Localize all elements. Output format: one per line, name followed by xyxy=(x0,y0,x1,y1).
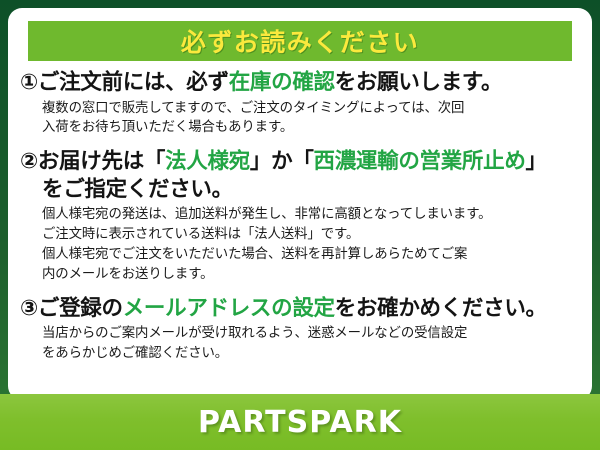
notice-item-1: ①ご注文前には、必ず在庫の確認をお願いします。 複数の窓口で販売してますので、ご… xyxy=(20,69,586,138)
notice-1-body: 複数の窓口で販売してますので、ご注文のタイミングによっては、次回 入荷をお待ち頂… xyxy=(42,99,586,139)
notice-2-heading-line-2: をご指定ください。 xyxy=(42,176,586,204)
notice-2-body: 個人様宅宛の発送は、追加送料が発生し、非常に高額となってしまいます。 ご注文時に… xyxy=(42,205,586,284)
notice-card: 必ずお読みください ①ご注文前には、必ず在庫の確認をお願いします。 複数の窓口で… xyxy=(0,0,600,450)
notice-3-body: 当店からのご案内メールが受け取れるよう、迷惑メールなどの受信設定 をあらかじめご… xyxy=(42,324,586,364)
notice-2-heading-mid: 」か「 xyxy=(250,149,314,174)
notice-2-heading-post: 」 xyxy=(526,149,547,174)
notice-1-heading-post: をお願いします。 xyxy=(335,70,502,95)
notice-2-body-line-2: ご注文時に表示されている送料は「法人送料」です。 xyxy=(42,225,586,245)
notice-1-heading-pre: ご注文前には、必ず xyxy=(38,70,229,95)
notice-3-heading: ③ご登録のメールアドレスの設定をお確かめください。 xyxy=(20,295,586,323)
footer-bar: PARTSPARK xyxy=(0,394,600,450)
notice-item-3: ③ご登録のメールアドレスの設定をお確かめください。 当店からのご案内メールが受け… xyxy=(20,295,586,364)
notice-3-heading-pre: ご登録の xyxy=(38,296,123,321)
notice-2-heading-highlight-2: 西濃運輸の営業所止め xyxy=(314,149,526,174)
notice-1-heading-highlight: 在庫の確認 xyxy=(229,70,335,95)
notice-1-heading: ①ご注文前には、必ず在庫の確認をお願いします。 xyxy=(20,69,586,97)
notice-panel: 必ずお読みください ①ご注文前には、必ず在庫の確認をお願いします。 複数の窓口で… xyxy=(8,8,592,400)
notice-2-heading-highlight: 法人様宛 xyxy=(165,149,250,174)
notice-2-heading: ②お届け先は「法人様宛」か「西濃運輸の営業所止め」 xyxy=(20,148,586,176)
notice-2-marker: ② xyxy=(20,149,38,174)
notice-1-marker: ① xyxy=(20,70,38,95)
notice-2-body-line-3: 個人様宅宛でご注文をいただいた場合、送料を再計算しあらためてご案 xyxy=(42,245,586,265)
notice-3-marker: ③ xyxy=(20,296,38,321)
brand-logo-text: PARTSPARK xyxy=(198,405,402,440)
notice-item-2: ②お届け先は「法人様宛」か「西濃運輸の営業所止め」 をご指定ください。 個人様宅… xyxy=(20,148,586,284)
notice-list: ①ご注文前には、必ず在庫の確認をお願いします。 複数の窓口で販売してますので、ご… xyxy=(20,69,586,365)
notice-2-heading-pre: お届け先は「 xyxy=(38,149,165,174)
notice-3-heading-highlight: メールアドレスの設定 xyxy=(123,296,335,321)
notice-3-body-line-2: をあらかじめご確認ください。 xyxy=(42,344,586,364)
notice-2-body-line-4: 内のメールをお送りします。 xyxy=(42,265,586,285)
notice-1-body-line-2: 入荷をお待ち頂いただく場合もあります。 xyxy=(42,118,586,138)
banner-title: 必ずお読みください xyxy=(181,23,420,59)
notice-2-body-line-1: 個人様宅宛の発送は、追加送料が発生し、非常に高額となってしまいます。 xyxy=(42,205,586,225)
title-banner: 必ずお読みください xyxy=(28,21,572,61)
notice-3-body-line-1: 当店からのご案内メールが受け取れるよう、迷惑メールなどの受信設定 xyxy=(42,324,586,344)
notice-1-body-line-1: 複数の窓口で販売してますので、ご注文のタイミングによっては、次回 xyxy=(42,99,586,119)
notice-3-heading-post: をお確かめください。 xyxy=(335,296,547,321)
